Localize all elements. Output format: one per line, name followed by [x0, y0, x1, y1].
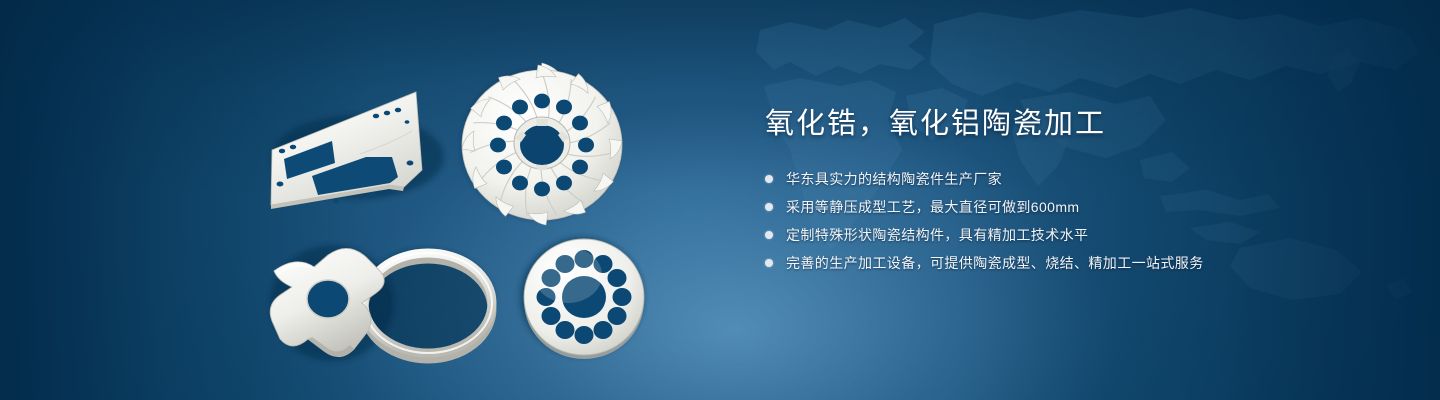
banner-text-block: 氧化锆，氧化铝陶瓷加工 华东具实力的结构陶瓷件生产厂家 采用等静压成型工艺，最大…: [765, 110, 1385, 281]
banner-title: 氧化锆，氧化铝陶瓷加工: [765, 110, 1385, 139]
feature-list: 华东具实力的结构陶瓷件生产厂家 采用等静压成型工艺，最大直径可做到600mm 定…: [765, 169, 1385, 273]
list-item: 定制特殊形状陶瓷结构件，具有精加工技术水平: [765, 225, 1385, 245]
ceramic-hole-disc-part: [524, 239, 644, 359]
feature-text: 采用等静压成型工艺，最大直径可做到600mm: [786, 197, 1079, 217]
bullet-dot-icon: [765, 175, 773, 183]
list-item: 采用等静压成型工艺，最大直径可做到600mm: [765, 197, 1385, 217]
ceramic-impeller-part: [462, 63, 622, 225]
feature-text: 完善的生产加工设备，可提供陶瓷成型、烧结、精加工一站式服务: [786, 253, 1204, 273]
list-item: 华东具实力的结构陶瓷件生产厂家: [765, 169, 1385, 189]
product-photo-group: [240, 45, 670, 375]
promo-banner: 氧化锆，氧化铝陶瓷加工 华东具实力的结构陶瓷件生产厂家 采用等静压成型工艺，最大…: [0, 0, 1440, 400]
feature-text: 华东具实力的结构陶瓷件生产厂家: [786, 169, 1002, 189]
bullet-dot-icon: [765, 231, 773, 239]
bullet-dot-icon: [765, 259, 773, 267]
feature-text: 定制特殊形状陶瓷结构件，具有精加工技术水平: [786, 225, 1088, 245]
bullet-dot-icon: [765, 203, 773, 211]
list-item: 完善的生产加工设备，可提供陶瓷成型、烧结、精加工一站式服务: [765, 253, 1385, 273]
